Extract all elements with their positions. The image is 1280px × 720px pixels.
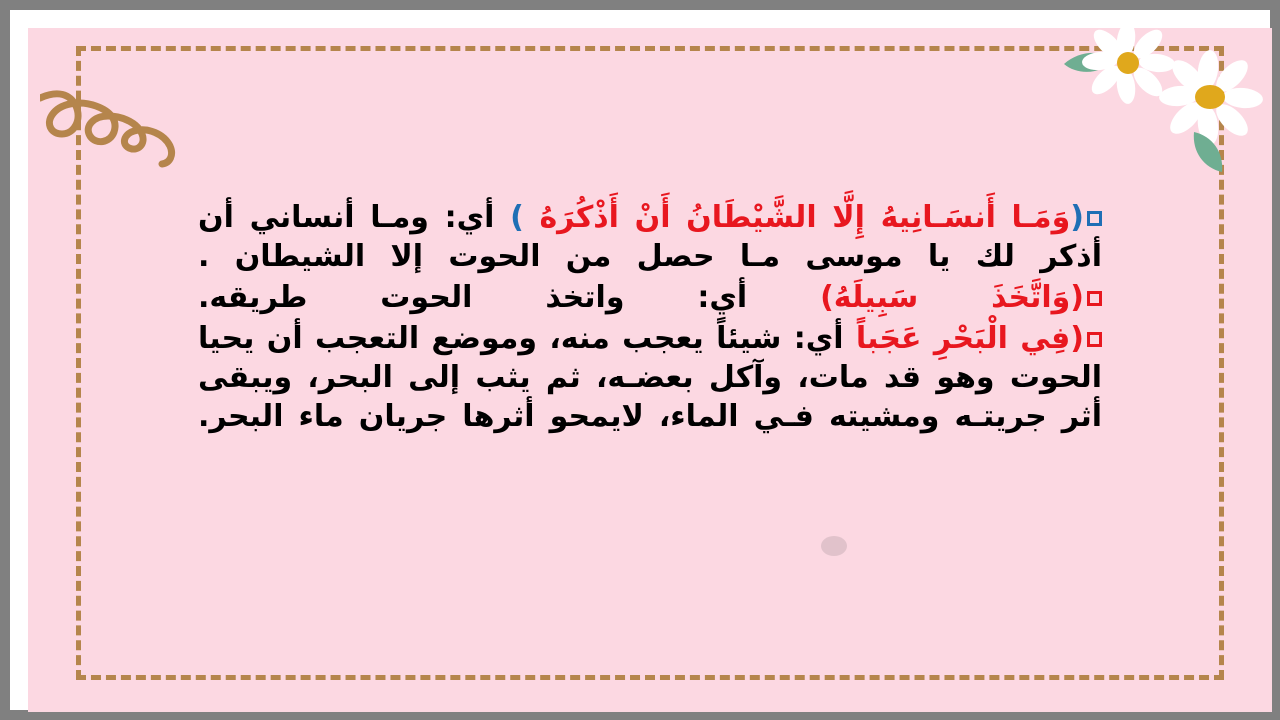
smudge-artifact bbox=[821, 536, 847, 556]
quran-quote-1: وَمَـا أَنسَـانِيهُ إِلَّا الشَّيْطَانُ … bbox=[539, 200, 1070, 235]
quote-open-paren-2: ( bbox=[1070, 280, 1084, 315]
bullet-square-blue-icon bbox=[1087, 211, 1102, 226]
tafsir-block-1: (وَمَـا أَنسَـانِيهُ إِلَّا الشَّيْطَانُ… bbox=[198, 198, 1102, 276]
daisy-flower-icon bbox=[1062, 28, 1272, 178]
quote-close-paren-2: ) bbox=[820, 280, 834, 315]
slide-frame: (وَمَـا أَنسَـانِيهُ إِلَّا الشَّيْطَانُ… bbox=[0, 0, 1280, 720]
pink-content-card: (وَمَـا أَنسَـانِيهُ إِلَّا الشَّيْطَانُ… bbox=[28, 28, 1272, 712]
white-band: (وَمَـا أَنسَـانِيهُ إِلَّا الشَّيْطَانُ… bbox=[10, 10, 1270, 710]
quran-quote-2: وَاتَّخَذَ سَبِيلَهُ bbox=[834, 280, 1071, 315]
tafsir-gloss-2: أي: واتخذ الحوت طريقه. bbox=[198, 280, 820, 315]
curly-swirl-icon bbox=[40, 76, 215, 186]
quote-open-paren-1: ( bbox=[1070, 200, 1084, 235]
bullet-square-red-icon bbox=[1087, 291, 1102, 306]
lesson-text-body: (وَمَـا أَنسَـانِيهُ إِلَّا الشَّيْطَانُ… bbox=[28, 198, 1272, 436]
tafsir-block-2: (وَاتَّخَذَ سَبِيلَهُ) أي: واتخذ الحوت ط… bbox=[198, 278, 1102, 317]
tafsir-block-3: (فِي الْبَحْرِ عَجَباً أي: شيئاً يعجب من… bbox=[198, 319, 1102, 436]
quote-close-paren-1: ) bbox=[510, 200, 539, 235]
bullet-square-red-icon-2 bbox=[1087, 332, 1102, 347]
quote-open-paren-3: ( bbox=[1070, 321, 1084, 356]
quran-quote-3: فِي الْبَحْرِ عَجَباً bbox=[856, 321, 1070, 356]
